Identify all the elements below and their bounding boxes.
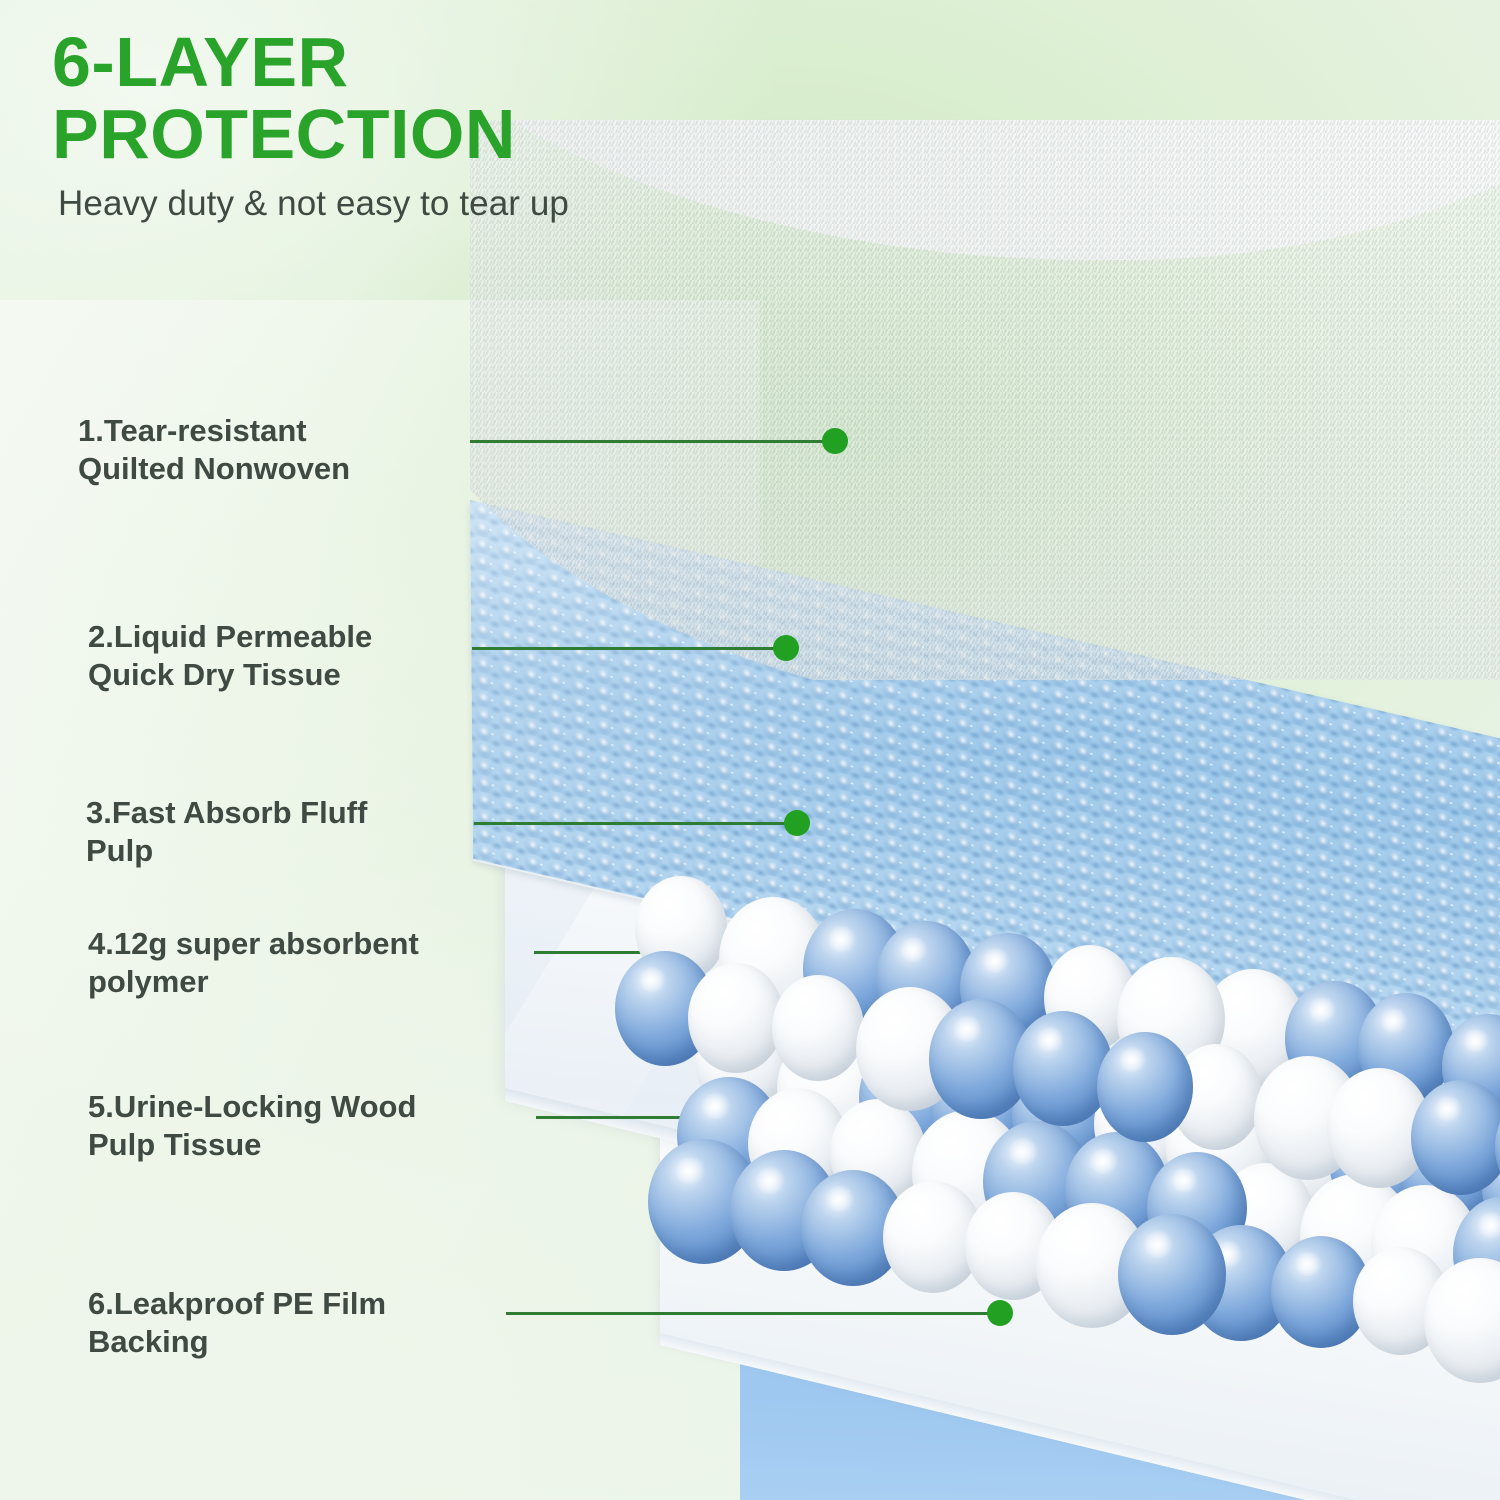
sap-bead-white <box>772 975 864 1081</box>
leader-line-1 <box>470 440 825 443</box>
sap-bead-specular <box>655 891 683 914</box>
leader-dot-3 <box>784 810 810 836</box>
sap-bead-specular <box>1142 1231 1174 1258</box>
sap-bead-specular <box>700 1093 731 1119</box>
sap-bead-specular <box>952 1016 983 1042</box>
sap-bead-specular <box>1118 1047 1147 1071</box>
sap-bead-specular <box>1293 1252 1323 1277</box>
callout-label-6: 6.Leakproof PE Film Backing <box>88 1285 528 1361</box>
sap-bead-specular <box>1350 1085 1381 1111</box>
sap-bead-specular <box>754 1167 786 1194</box>
callout-label-3: 3.Fast Absorb Fluff Pulp <box>86 794 506 870</box>
callout-label-4: 4.12g super absorbent polymer <box>88 925 558 1001</box>
sap-bead-specular <box>743 914 775 941</box>
callout-label-2: 2.Liquid Permeable Quick Dry Tissue <box>88 618 518 694</box>
sap-bead-specular <box>937 1128 971 1156</box>
callout-label-1: 1.Tear-resistant Quilted Nonwoven <box>78 412 498 488</box>
sap-bead-blue <box>1097 1032 1193 1142</box>
sap-bead-specular <box>826 926 857 952</box>
sap-bead-specular <box>1462 1029 1490 1052</box>
sap-bead-blue <box>1013 1011 1113 1126</box>
sap-bead-specular <box>1141 974 1173 1001</box>
leader-line-3 <box>474 822 789 825</box>
sap-bead-specular <box>1395 1202 1427 1229</box>
sap-bead-specular <box>1278 1073 1310 1100</box>
leader-dot-2 <box>773 635 799 661</box>
sap-bead-blue <box>1411 1080 1500 1195</box>
sap-bead-specular <box>824 1186 855 1212</box>
sap-bead-specular <box>1169 1168 1199 1193</box>
sap-bead-specular <box>1307 997 1337 1022</box>
sap-bead-specular <box>1035 1027 1065 1052</box>
sap-bead-specular <box>986 1207 1015 1231</box>
sap-bead-specular <box>673 1157 707 1185</box>
sap-bead-specular <box>637 967 667 992</box>
leader-line-6 <box>506 1312 991 1315</box>
sap-bead-specular <box>1007 1138 1039 1165</box>
header-block: 6-LAYER PROTECTION Heavy duty & not easy… <box>52 26 832 224</box>
page-subtitle: Heavy duty & not easy to tear up <box>58 184 832 224</box>
sap-bead-specular <box>1433 1096 1463 1121</box>
sap-bead-specular <box>1224 986 1255 1012</box>
sap-bead-specular <box>905 1197 935 1222</box>
sap-bead-specular <box>792 990 820 1013</box>
sap-bead-specular <box>1374 1262 1403 1286</box>
sap-bead-specular <box>898 937 928 962</box>
sap-bead-specular <box>880 1004 912 1031</box>
callout-label-5: 5.Urine-Locking Wood Pulp Tissue <box>88 1088 558 1164</box>
sap-bead-specular <box>709 978 738 1002</box>
sap-bead-specular <box>770 1104 800 1129</box>
sap-bead-specular <box>1088 1148 1119 1174</box>
sap-bead-white <box>688 963 784 1073</box>
sap-bead-blue <box>1118 1214 1226 1335</box>
leader-dot-1 <box>822 428 848 454</box>
leader-line-2 <box>472 647 777 650</box>
page-title: 6-LAYER PROTECTION <box>52 26 832 170</box>
sap-bead-specular <box>1061 1221 1095 1249</box>
sap-bead-specular <box>1325 1192 1359 1220</box>
sap-bead-specular <box>981 948 1010 972</box>
leader-dot-6 <box>987 1300 1013 1326</box>
sap-bead-specular <box>1064 960 1092 983</box>
sap-bead-specular <box>1379 1008 1408 1032</box>
sap-bead-specular <box>851 1114 880 1138</box>
product-layers-infographic: 6-LAYER PROTECTION Heavy duty & not easy… <box>0 0 1500 1500</box>
sap-bead-specular <box>1449 1276 1483 1304</box>
sap-bead-specular <box>1476 1212 1500 1238</box>
sap-bead-specular <box>1190 1059 1218 1082</box>
